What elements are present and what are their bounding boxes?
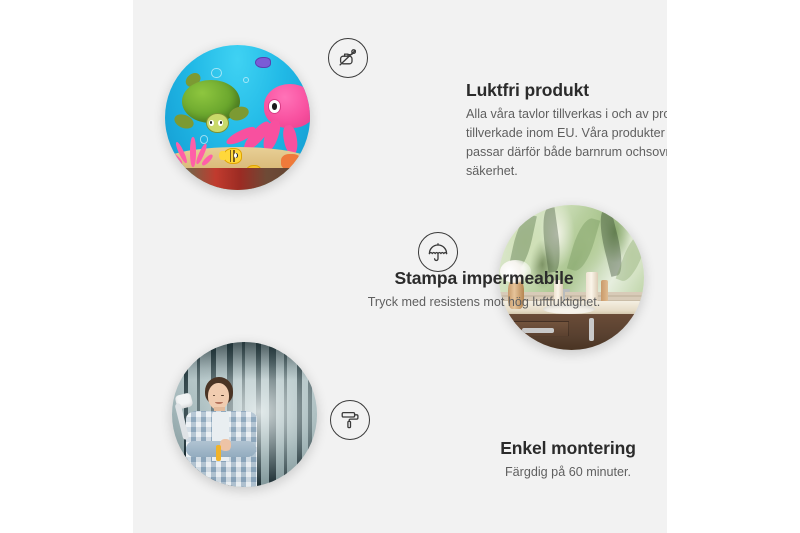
bubble-icon [211,68,221,78]
drawer-handle [522,328,554,332]
underwater-artwork [165,45,310,190]
feature-title: Stampa impermeabile [339,268,629,290]
feature-text-easy-mounting: Enkel montering Färgdig på 60 minuter. [453,438,667,482]
hand [220,439,231,451]
umbrella-icon [418,232,458,272]
feature-image-woman-with-paint-roller-forest [172,342,317,487]
yellow-fish-icon [223,148,242,164]
feature-panel: Luktfri produkt Alla våra tavlor tillver… [133,0,667,533]
feature-title: Enkel montering [453,438,667,460]
cabinet-handle [589,318,594,341]
coral-icon [174,129,212,167]
smile [215,400,223,404]
feature-text-odourless: Luktfri produkt Alla våra tavlor tillver… [466,80,667,181]
feature-body: Alla våra tavlor tillverkas i och av pro… [466,105,667,182]
feature-body: Färgdig på 60 minuter. [453,463,667,482]
eye [213,395,216,397]
eye [221,395,224,397]
page-root: Luktfri produkt Alla våra tavlor tillver… [0,0,800,533]
turtle-eye [218,120,223,126]
feature-title: Luktfri produkt [466,80,667,102]
paint-roller-icon [330,400,370,440]
person-figure [181,377,262,487]
tool-grip [216,445,221,460]
no-fragrance-icon [328,38,368,78]
feature-text-waterproof: Stampa impermeabile Tryck med resistens … [339,268,629,312]
forest-artwork [172,342,317,487]
forest-canopy [172,342,317,380]
turtle-eye [209,120,214,126]
feature-image-underwater-kids-mural [165,45,310,190]
bubble-icon [243,77,249,83]
octopus-eye [268,99,282,114]
purple-fish-icon [255,57,271,69]
foreground-strip [165,168,310,190]
feature-body: Tryck med resistens mot hög luftfuktighe… [339,293,629,312]
